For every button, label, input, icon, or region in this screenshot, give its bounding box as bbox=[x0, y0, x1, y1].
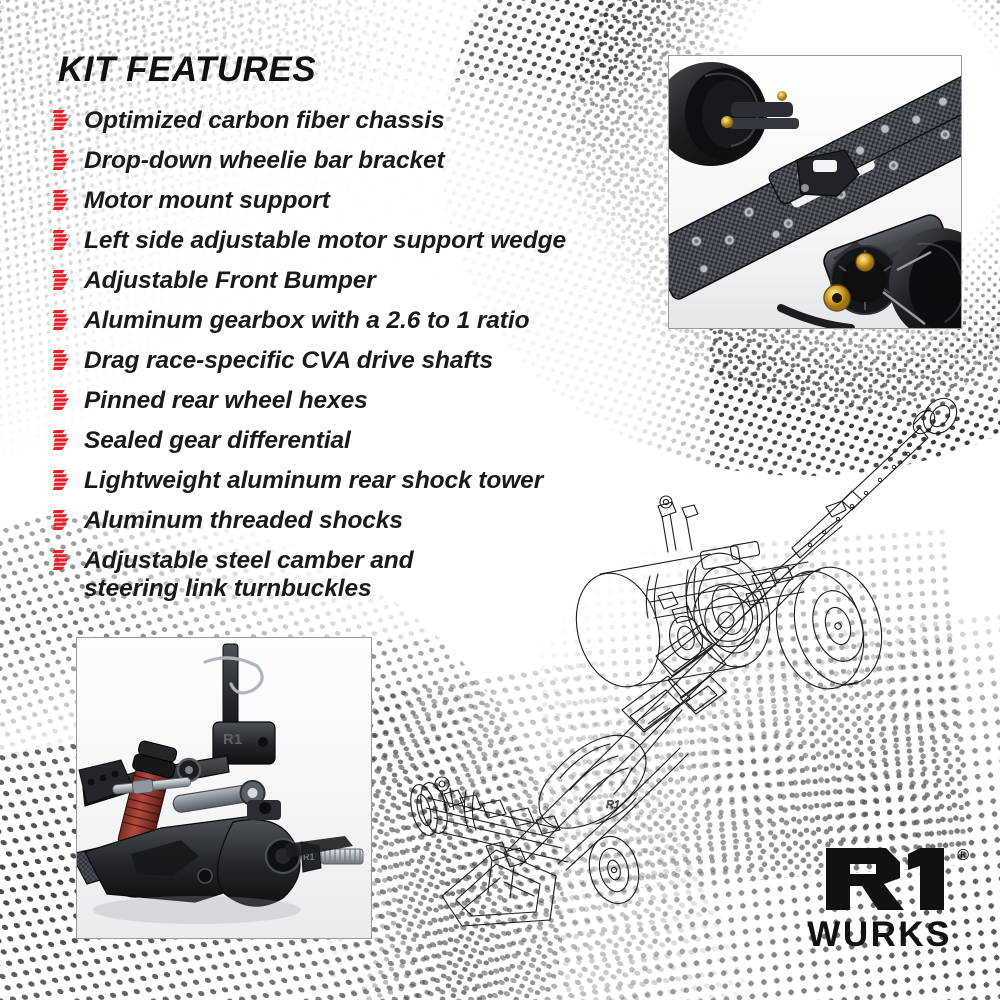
logo-wordmark: WURKS bbox=[807, 917, 952, 952]
list-item: Drag race-specific CVA drive shafts bbox=[52, 344, 652, 383]
list-item: Lightweight aluminum rear shock tower bbox=[52, 464, 652, 503]
list-item: Aluminum threaded shocks bbox=[52, 504, 652, 543]
list-item-label: Drag race-specific CVA drive shafts bbox=[84, 344, 493, 375]
list-item-label: Pinned rear wheel hexes bbox=[84, 384, 368, 415]
list-item-label: Optimized carbon fiber chassis bbox=[84, 104, 445, 135]
list-item: Optimized carbon fiber chassis bbox=[52, 104, 652, 143]
list-item: Pinned rear wheel hexes bbox=[52, 384, 652, 423]
list-item: Adjustable Front Bumper bbox=[52, 264, 652, 303]
red-arrow-bullet-icon bbox=[52, 308, 84, 338]
red-arrow-bullet-icon bbox=[52, 268, 84, 298]
list-item: Aluminum gearbox with a 2.6 to 1 ratio bbox=[52, 304, 652, 343]
registered-trademark-icon: ® bbox=[957, 848, 969, 864]
list-item-label: Drop-down wheelie bar bracket bbox=[84, 144, 445, 175]
kit-features-poster: KIT FEATURES Optimized carbon fiber chas… bbox=[0, 0, 1000, 1000]
list-item-label: Lightweight aluminum rear shock tower bbox=[84, 464, 543, 495]
red-arrow-bullet-icon bbox=[52, 428, 84, 458]
carbon-fiber-chassis-photo bbox=[668, 55, 962, 329]
r1-logo-mark: ® bbox=[824, 844, 952, 914]
front-suspension-photo: R1 bbox=[76, 637, 372, 939]
red-arrow-bullet-icon bbox=[52, 548, 84, 578]
list-item-label: Adjustable steel camber and steering lin… bbox=[84, 544, 414, 604]
list-item-label: Motor mount support bbox=[84, 184, 330, 215]
kit-features-list: Optimized carbon fiber chassis Drop-down… bbox=[52, 104, 652, 605]
red-arrow-bullet-icon bbox=[52, 148, 84, 178]
list-item: Left side adjustable motor support wedge bbox=[52, 224, 652, 263]
red-arrow-bullet-icon bbox=[52, 508, 84, 538]
red-arrow-bullet-icon bbox=[52, 468, 84, 498]
list-item: Motor mount support bbox=[52, 184, 652, 223]
red-arrow-bullet-icon bbox=[52, 228, 84, 258]
list-item: Drop-down wheelie bar bracket bbox=[52, 144, 652, 183]
r1-wurks-logo: ® WURKS bbox=[807, 844, 952, 952]
list-item: Adjustable steel camber and steering lin… bbox=[52, 544, 652, 604]
list-item-label: Adjustable Front Bumper bbox=[84, 264, 376, 295]
red-arrow-bullet-icon bbox=[52, 188, 84, 218]
red-arrow-bullet-icon bbox=[52, 108, 84, 138]
page-title: KIT FEATURES bbox=[58, 50, 316, 90]
list-item-label: Aluminum gearbox with a 2.6 to 1 ratio bbox=[84, 304, 529, 335]
list-item-label: Left side adjustable motor support wedge bbox=[84, 224, 566, 255]
red-arrow-bullet-icon bbox=[52, 348, 84, 378]
list-item-label: Aluminum threaded shocks bbox=[84, 504, 403, 535]
svg-text:R1: R1 bbox=[223, 731, 242, 748]
list-item: Sealed gear differential bbox=[52, 424, 652, 463]
list-item-label: Sealed gear differential bbox=[84, 424, 351, 455]
red-arrow-bullet-icon bbox=[52, 388, 84, 418]
